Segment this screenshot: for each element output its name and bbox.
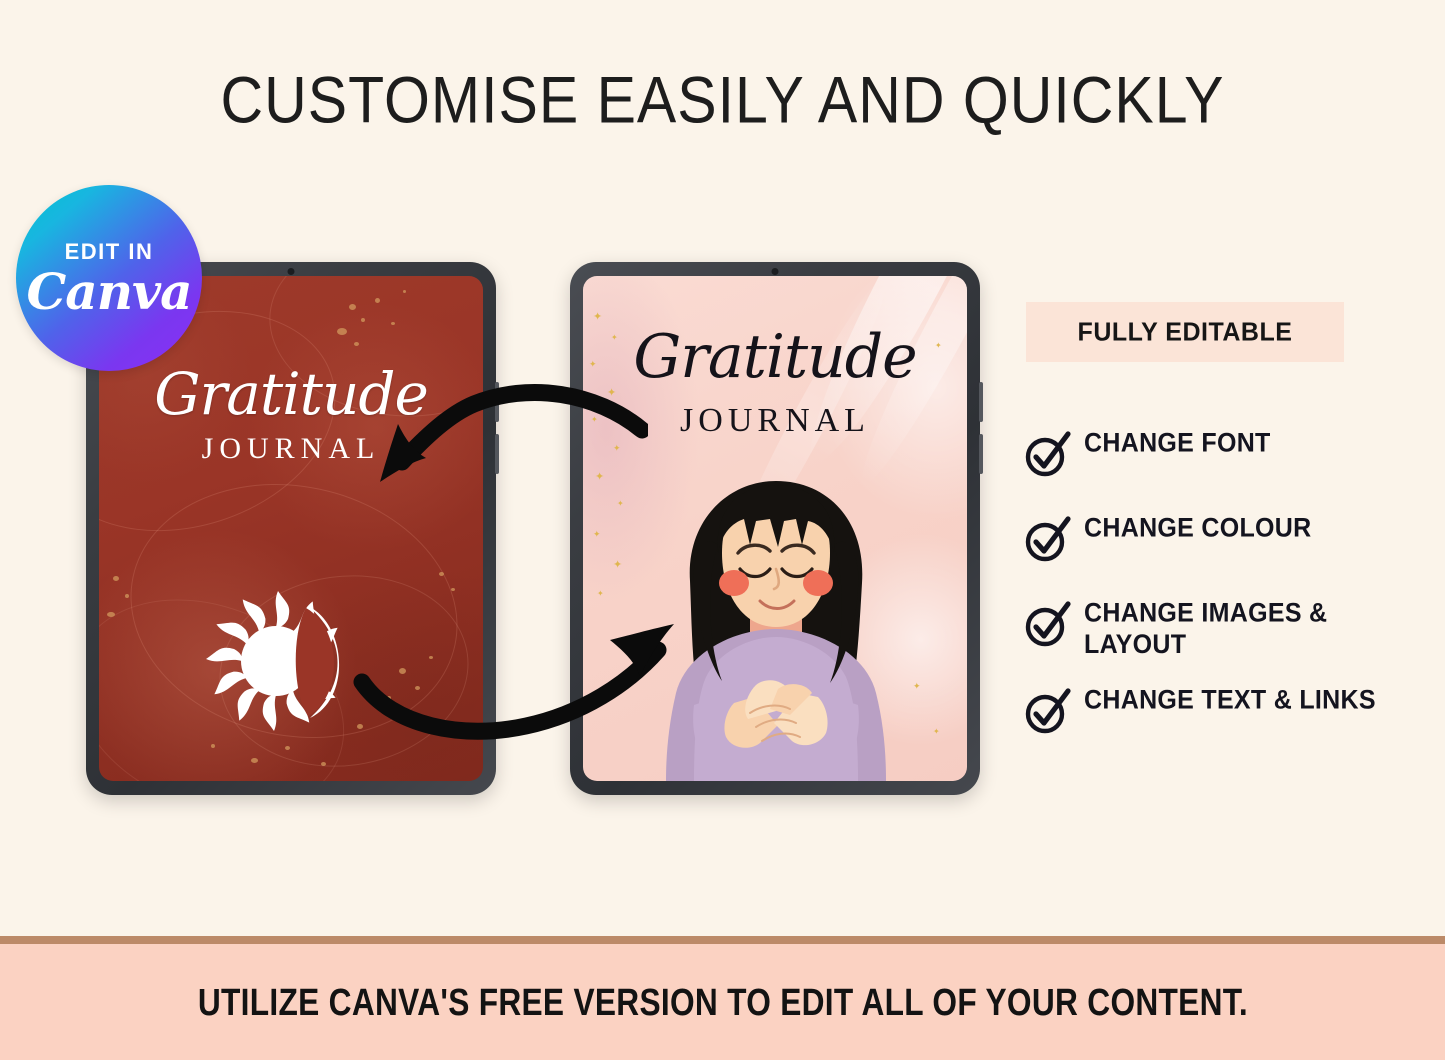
gold-fleck (399, 668, 406, 674)
feature-item-change-colour: CHANGE COLOUR (1022, 513, 1422, 570)
canva-wordmark: Canva (27, 267, 192, 317)
gold-fleck (337, 328, 347, 335)
gold-fleck (354, 342, 359, 346)
feature-list: CHANGE FONT CHANGE COLOUR CHANGE IMAGES … (1022, 428, 1422, 770)
journal-title-serif-pink: JOURNAL (583, 402, 967, 440)
footer-banner: UTILIZE CANVA'S FREE VERSION TO EDIT ALL… (0, 944, 1445, 1060)
feature-label: CHANGE TEXT & LINKS (1084, 685, 1376, 716)
circle-check-icon (1022, 685, 1084, 742)
gold-fleck (403, 290, 406, 293)
circle-check-icon (1022, 513, 1084, 570)
gold-fleck (361, 318, 365, 322)
gold-fleck (375, 298, 380, 303)
tablet-volume-up-button[interactable] (495, 382, 499, 422)
footer-divider (0, 936, 1445, 944)
woman-hands-on-heart-illustration (630, 461, 920, 781)
feature-item-change-text-links: CHANGE TEXT & LINKS (1022, 685, 1422, 742)
tablet-camera-icon (288, 268, 295, 275)
gold-fleck (391, 322, 395, 325)
feature-label: CHANGE IMAGES & LAYOUT (1084, 598, 1389, 661)
tablet-volume-down-button[interactable] (979, 434, 983, 474)
gold-fleck (349, 304, 356, 310)
edit-in-canva-badge[interactable]: EDIT IN Canva (16, 185, 202, 371)
gold-fleck (451, 588, 455, 591)
fully-editable-label: FULLY EDITABLE (1078, 317, 1293, 347)
sun-moon-icon (196, 576, 386, 746)
tablet-volume-down-button[interactable] (495, 434, 499, 474)
sparkle-icon: ✦ (613, 444, 621, 453)
fully-editable-badge: FULLY EDITABLE (1026, 302, 1344, 362)
gold-fleck (439, 572, 444, 576)
journal-title-script-pink: Gratitude (583, 322, 967, 392)
feature-item-change-images-layout: CHANGE IMAGES & LAYOUT (1022, 598, 1422, 657)
page-title: CUSTOMISE EASILY AND QUICKLY (0, 62, 1445, 138)
journal-title-script-red: Gratitude (99, 360, 483, 428)
gold-fleck (429, 656, 433, 659)
circle-check-icon (1022, 598, 1084, 655)
feature-label: CHANGE COLOUR (1084, 513, 1312, 544)
circle-check-icon (1022, 428, 1084, 485)
sparkle-icon: ✦ (595, 472, 604, 483)
gold-fleck (113, 576, 119, 581)
journal-title-serif-red: JOURNAL (99, 432, 483, 466)
gold-fleck (387, 696, 391, 700)
gold-fleck (285, 746, 290, 750)
feature-item-change-font: CHANGE FONT (1022, 428, 1422, 485)
gold-fleck (415, 686, 420, 690)
sparkle-icon: ✦ (617, 500, 624, 508)
sparkle-icon: ✦ (933, 728, 940, 736)
gold-fleck (251, 758, 258, 763)
gold-fleck (321, 762, 326, 766)
tablet-device-pink[interactable]: ✦ ✦ ✦ ✦ ✦ ✦ ✦ ✦ ✦ ✦ ✦ ✦ ✦ ✦ Gratitude JO… (570, 262, 980, 795)
tablet-screen-pink[interactable]: ✦ ✦ ✦ ✦ ✦ ✦ ✦ ✦ ✦ ✦ ✦ ✦ ✦ ✦ Gratitude JO… (583, 276, 967, 781)
feature-label: CHANGE FONT (1084, 428, 1271, 459)
footer-text: UTILIZE CANVA'S FREE VERSION TO EDIT ALL… (197, 980, 1247, 1024)
sparkle-icon: ✦ (593, 530, 601, 539)
tablet-camera-icon (772, 268, 779, 275)
sparkle-icon: ✦ (613, 560, 622, 571)
journal-cover-pink: ✦ ✦ ✦ ✦ ✦ ✦ ✦ ✦ ✦ ✦ ✦ ✦ ✦ ✦ Gratitude JO… (583, 276, 967, 781)
gold-fleck (125, 594, 129, 598)
tablet-volume-up-button[interactable] (979, 382, 983, 422)
sparkle-icon: ✦ (597, 590, 604, 598)
gold-fleck (107, 612, 115, 617)
